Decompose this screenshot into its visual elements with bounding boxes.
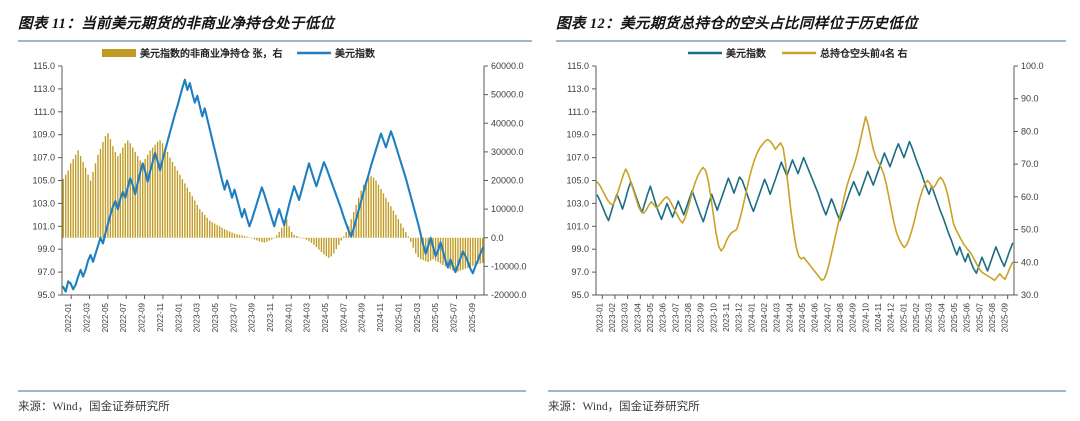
figure-11-source-block: 来源：Wind，国金证券研究所 [0,390,540,421]
svg-text:2024-07: 2024-07 [823,302,832,332]
svg-text:2024-01: 2024-01 [747,302,756,332]
svg-text:30.0: 30.0 [1021,290,1039,300]
svg-text:20000.0: 20000.0 [491,176,524,186]
svg-text:2025-05: 2025-05 [950,302,959,332]
svg-text:2023-03: 2023-03 [621,302,630,332]
svg-text:2024-11: 2024-11 [376,302,385,331]
svg-text:40000.0: 40000.0 [491,118,524,128]
svg-text:2024-02: 2024-02 [760,302,769,332]
svg-text:111.0: 111.0 [568,107,589,117]
svg-text:111.0: 111.0 [34,107,55,117]
svg-text:-10000.0: -10000.0 [491,261,527,271]
figures-page: 图表 11：当前美元期货的非商业净持仓处于低位 115.0113.0111.01… [0,0,1080,421]
svg-text:2023-02: 2023-02 [608,302,617,332]
svg-text:2025-04: 2025-04 [937,302,946,332]
svg-text:2024-05: 2024-05 [798,302,807,332]
svg-text:2023-07: 2023-07 [671,302,680,332]
svg-text:2022-11: 2022-11 [156,302,165,331]
svg-text:2025-09: 2025-09 [468,302,477,332]
svg-text:109.0: 109.0 [32,130,55,140]
svg-text:2024-07: 2024-07 [339,302,348,332]
svg-text:103.0: 103.0 [32,198,55,208]
svg-text:115.0: 115.0 [567,61,589,71]
figure-11-source: 来源：Wind，国金证券研究所 [0,392,540,414]
svg-text:2025-09: 2025-09 [1001,302,1010,332]
svg-text:80.0: 80.0 [1021,126,1039,136]
svg-text:0.0: 0.0 [491,233,504,243]
svg-text:2025-07: 2025-07 [449,302,458,332]
svg-text:105.0: 105.0 [566,176,589,186]
svg-text:2023-09: 2023-09 [697,302,706,332]
svg-text:10000.0: 10000.0 [491,204,524,214]
svg-text:99.0: 99.0 [571,244,589,254]
svg-text:2025-05: 2025-05 [431,302,440,332]
svg-text:2025-02: 2025-02 [912,302,921,332]
svg-text:105.0: 105.0 [32,176,55,186]
svg-text:2022-05: 2022-05 [101,302,110,332]
svg-text:美元指数的非商业净持仓 张，右: 美元指数的非商业净持仓 张，右 [140,47,283,60]
svg-text:2025-01: 2025-01 [899,302,908,332]
svg-text:2024-03: 2024-03 [773,302,782,332]
svg-text:2023-09: 2023-09 [248,302,257,332]
svg-text:97.0: 97.0 [571,267,589,277]
svg-text:50000.0: 50000.0 [491,90,524,100]
svg-text:2023-11: 2023-11 [722,302,731,331]
figure-12-title: 图表 12：美元期货总持仓的空头占比同样位于历史低位 [548,0,1066,33]
figure-11-title: 图表 11：当前美元期货的非商业净持仓处于低位 [14,0,532,33]
svg-text:60.0: 60.0 [1021,192,1039,202]
svg-text:2024-05: 2024-05 [321,302,330,332]
svg-text:40.0: 40.0 [1021,257,1039,267]
chart-12-svg: 115.0113.0111.0109.0107.0105.0103.0101.0… [548,42,1066,367]
svg-text:30000.0: 30000.0 [491,147,524,157]
svg-text:2024-12: 2024-12 [887,302,896,332]
svg-text:109.0: 109.0 [566,130,589,140]
svg-text:101.0: 101.0 [566,221,589,231]
svg-text:2022-01: 2022-01 [64,302,73,332]
figure-11-panel: 图表 11：当前美元期货的非商业净持仓处于低位 115.0113.0111.01… [0,0,540,421]
svg-text:2023-07: 2023-07 [229,302,238,332]
svg-text:90.0: 90.0 [1021,94,1039,104]
svg-text:100.0: 100.0 [1021,61,1044,71]
svg-text:2023-12: 2023-12 [735,302,744,332]
svg-text:2025-08: 2025-08 [988,302,997,332]
svg-text:2025-07: 2025-07 [975,302,984,332]
svg-text:美元指数: 美元指数 [335,47,376,60]
svg-text:95.0: 95.0 [37,290,55,300]
svg-text:2023-06: 2023-06 [659,302,668,332]
svg-text:2025-06: 2025-06 [963,302,972,332]
chart-11-svg: 115.0113.0111.0109.0107.0105.0103.0101.0… [14,42,540,367]
svg-text:99.0: 99.0 [37,244,55,254]
svg-text:2024-03: 2024-03 [303,302,312,332]
svg-text:2023-01: 2023-01 [174,302,183,332]
svg-text:2023-05: 2023-05 [646,302,655,332]
svg-text:70.0: 70.0 [1021,159,1039,169]
svg-text:115.0: 115.0 [33,61,55,71]
svg-text:2022-07: 2022-07 [119,302,128,332]
svg-text:2024-01: 2024-01 [284,302,293,332]
svg-text:113.0: 113.0 [567,84,589,94]
svg-text:2023-08: 2023-08 [684,302,693,332]
svg-text:2024-10: 2024-10 [861,302,870,332]
svg-text:2024-04: 2024-04 [785,302,794,332]
svg-text:-20000.0: -20000.0 [491,290,527,300]
svg-text:97.0: 97.0 [37,267,55,277]
svg-text:95.0: 95.0 [571,290,589,300]
svg-text:美元指数: 美元指数 [726,47,767,60]
svg-text:总持仓空头前4名 右: 总持仓空头前4名 右 [820,47,908,60]
svg-text:60000.0: 60000.0 [491,61,524,71]
svg-text:107.0: 107.0 [32,153,55,163]
svg-text:2022-09: 2022-09 [138,302,147,332]
svg-text:2023-11: 2023-11 [266,302,275,331]
figure-12-source: 来源：Wind，国金证券研究所 [540,392,1080,414]
svg-text:2023-03: 2023-03 [193,302,202,332]
svg-text:2024-09: 2024-09 [358,302,367,332]
svg-text:2025-01: 2025-01 [394,302,403,332]
svg-text:2024-06: 2024-06 [811,302,820,332]
svg-text:2025-03: 2025-03 [413,302,422,332]
figure-12-panel: 图表 12：美元期货总持仓的空头占比同样位于历史低位 115.0113.0111… [540,0,1080,421]
svg-text:103.0: 103.0 [566,198,589,208]
svg-text:2024-09: 2024-09 [849,302,858,332]
svg-text:107.0: 107.0 [566,153,589,163]
svg-text:2023-05: 2023-05 [211,302,220,332]
svg-text:113.0: 113.0 [33,84,55,94]
svg-text:2023-10: 2023-10 [709,302,718,332]
svg-text:2025-03: 2025-03 [925,302,934,332]
svg-text:2024-08: 2024-08 [836,302,845,332]
figure-12-source-block: 来源：Wind，国金证券研究所 [540,390,1080,421]
svg-text:2023-01: 2023-01 [595,302,604,332]
svg-text:50.0: 50.0 [1021,225,1039,235]
svg-text:2022-03: 2022-03 [83,302,92,332]
figure-12-chart: 115.0113.0111.0109.0107.0105.0103.0101.0… [548,42,1066,367]
svg-text:2024-11: 2024-11 [874,302,883,331]
svg-text:2023-04: 2023-04 [633,302,642,332]
svg-text:101.0: 101.0 [32,221,55,231]
figure-11-chart: 115.0113.0111.0109.0107.0105.0103.0101.0… [14,42,532,367]
